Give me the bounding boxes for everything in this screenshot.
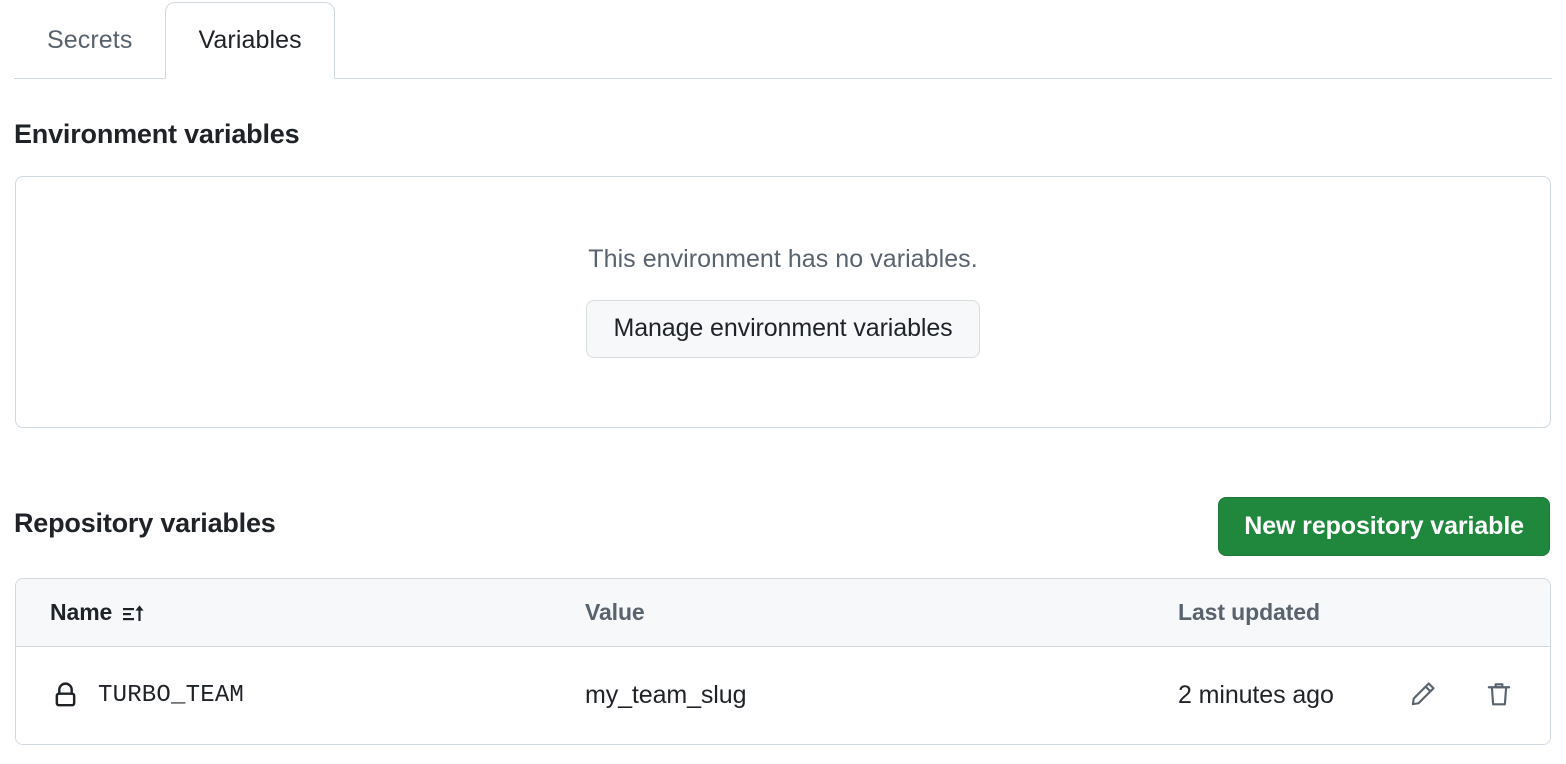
table-header-last-updated: Last updated (1178, 601, 1406, 624)
table-header-name: Name (16, 600, 585, 625)
table-header-value: Value (585, 601, 1178, 624)
variables-settings-page: Secrets Variables Environment variables … (0, 0, 1566, 764)
column-label-name: Name (50, 601, 112, 624)
pencil-icon (1408, 679, 1438, 712)
table-header-row: Name Value Last updated (16, 579, 1550, 647)
empty-state-message: This environment has no variables. (588, 247, 977, 272)
tab-secrets[interactable]: Secrets (14, 2, 165, 79)
sort-asc-icon (121, 601, 145, 625)
sort-by-name-button[interactable]: Name (50, 600, 145, 625)
table-row: TURBO_TEAM my_team_slug 2 minutes ago (16, 647, 1550, 744)
tabnav-tab-list: Secrets Variables (14, 2, 335, 79)
manage-environment-variables-button[interactable]: Manage environment variables (586, 300, 979, 358)
tab-variables[interactable]: Variables (165, 2, 334, 79)
column-label-last-updated: Last updated (1178, 601, 1320, 624)
new-repository-variable-button[interactable]: New repository variable (1218, 497, 1550, 556)
row-cell-value: my_team_slug (585, 683, 1178, 708)
repository-variables-table: Name Value Last updated (15, 578, 1551, 745)
edit-variable-button[interactable] (1406, 679, 1440, 713)
row-cell-name: TURBO_TEAM (16, 680, 585, 711)
row-cell-actions (1406, 679, 1550, 713)
trash-icon (1484, 679, 1514, 712)
row-cell-last-updated: 2 minutes ago (1178, 683, 1406, 708)
variable-value: my_team_slug (585, 683, 746, 708)
delete-variable-button[interactable] (1482, 679, 1516, 713)
environment-variables-heading: Environment variables (14, 121, 299, 148)
column-label-value: Value (585, 601, 645, 624)
repository-variables-heading: Repository variables (14, 510, 276, 537)
variable-name: TURBO_TEAM (98, 684, 244, 708)
environment-variables-empty-state: This environment has no variables. Manag… (15, 176, 1551, 428)
lock-icon (50, 680, 81, 711)
tab-navigation: Secrets Variables (0, 0, 1566, 80)
variable-last-updated: 2 minutes ago (1178, 683, 1334, 708)
